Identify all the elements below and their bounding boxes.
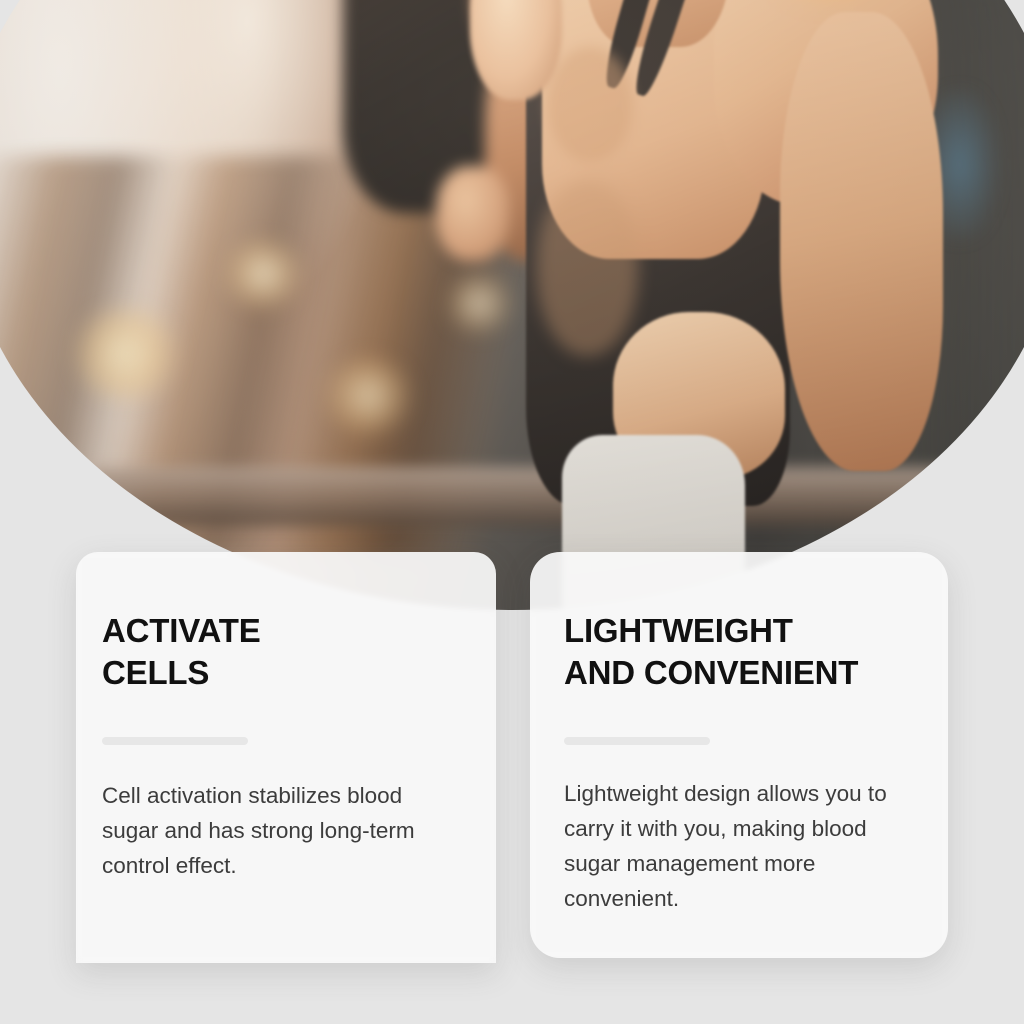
card-title: ACTIVATE CELLS — [102, 610, 456, 694]
card-body-text: Lightweight design allows you to carry i… — [564, 776, 918, 916]
feature-cards: ACTIVATE CELLS Cell activation stabilize… — [0, 0, 1024, 1024]
card-divider — [102, 737, 248, 745]
poster-canvas: ACTIVATE CELLS Cell activation stabilize… — [0, 0, 1024, 1024]
card-body-text: Cell activation stabilizes blood sugar a… — [102, 778, 456, 883]
feature-card-lightweight-and-convenient[interactable]: LIGHTWEIGHT AND CONVENIENT Lightweight d… — [530, 552, 948, 958]
feature-card-activate-cells[interactable]: ACTIVATE CELLS Cell activation stabilize… — [76, 552, 496, 963]
card-divider — [564, 737, 710, 745]
card-title: LIGHTWEIGHT AND CONVENIENT — [564, 610, 918, 694]
